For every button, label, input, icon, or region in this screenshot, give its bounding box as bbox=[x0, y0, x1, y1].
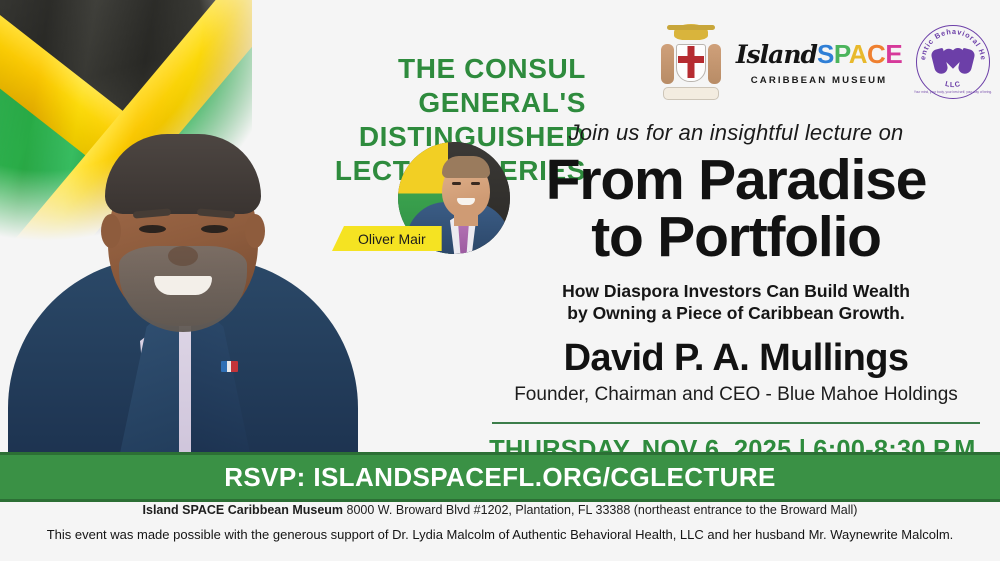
space-letter-p: P bbox=[834, 39, 849, 69]
event-details: Join us for an insightful lecture on Fro… bbox=[486, 120, 986, 465]
venue-name: Island SPACE Caribbean Museum bbox=[143, 503, 344, 517]
speaker-role: Founder, Chairman and CEO - Blue Mahoe H… bbox=[486, 384, 986, 406]
jamaica-coat-of-arms-icon bbox=[660, 24, 722, 100]
flag-lapel-pin-icon bbox=[221, 361, 238, 372]
lecture-title-line-1: From Paradise bbox=[486, 152, 986, 209]
speaker-name: David P. A. Mullings bbox=[486, 337, 986, 380]
venue-address: 8000 W. Broward Blvd #1202, Plantation, … bbox=[343, 503, 857, 517]
flyer-footer: Island SPACE Caribbean Museum 8000 W. Br… bbox=[0, 503, 1000, 542]
support-note: This event was made possible with the ge… bbox=[0, 527, 1000, 542]
divider-rule bbox=[492, 422, 980, 424]
abh-tagline: Your mind, your body, your best self, yo… bbox=[914, 90, 992, 94]
rsvp-link-text[interactable]: RSVP: ISLANDSPACEFL.ORG/CGLECTURE bbox=[224, 462, 776, 493]
island-space-subtitle: CARIBBEAN MUSEUM bbox=[751, 75, 887, 86]
series-line-1: THE CONSUL GENERAL'S bbox=[236, 52, 586, 120]
space-letter-a: A bbox=[849, 39, 867, 69]
lecture-subtitle-line-2: by Owning a Piece of Caribbean Growth. bbox=[486, 302, 986, 324]
partner-logos: Island SPACE CARIBBEAN MUSEUM Authentic … bbox=[660, 18, 990, 106]
join-us-line: Join us for an insightful lecture on bbox=[486, 120, 986, 146]
event-flyer: THE CONSUL GENERAL'S DISTINGUISHED LECTU… bbox=[0, 0, 1000, 561]
lecture-subtitle: How Diaspora Investors Can Build Wealth … bbox=[486, 280, 986, 325]
space-letter-c: C bbox=[867, 39, 885, 69]
island-space-logo: Island SPACE CARIBBEAN MUSEUM bbox=[744, 39, 894, 86]
space-letter-e: E bbox=[885, 39, 902, 69]
hands-heart-icon bbox=[933, 49, 973, 75]
space-wordmark: SPACE bbox=[817, 39, 902, 70]
lecture-title-line-2: to Portfolio bbox=[486, 209, 986, 266]
lecture-subtitle-line-1: How Diaspora Investors Can Build Wealth bbox=[486, 280, 986, 302]
name-badge-label: Oliver Mair bbox=[358, 231, 426, 247]
abh-arc-bottom-text: LLC bbox=[944, 79, 961, 89]
svg-text:LLC: LLC bbox=[944, 79, 961, 89]
lecture-title: From Paradise to Portfolio bbox=[486, 152, 986, 266]
oliver-mair-name-badge: Oliver Mair bbox=[332, 226, 442, 251]
space-letter-s: S bbox=[817, 39, 834, 69]
rsvp-bar[interactable]: RSVP: ISLANDSPACEFL.ORG/CGLECTURE bbox=[0, 452, 1000, 502]
venue-line: Island SPACE Caribbean Museum 8000 W. Br… bbox=[0, 503, 1000, 517]
authentic-behavioral-health-logo: Authentic Behavioral Health, LLC Your mi… bbox=[916, 25, 990, 99]
island-wordmark: Island bbox=[736, 40, 817, 69]
